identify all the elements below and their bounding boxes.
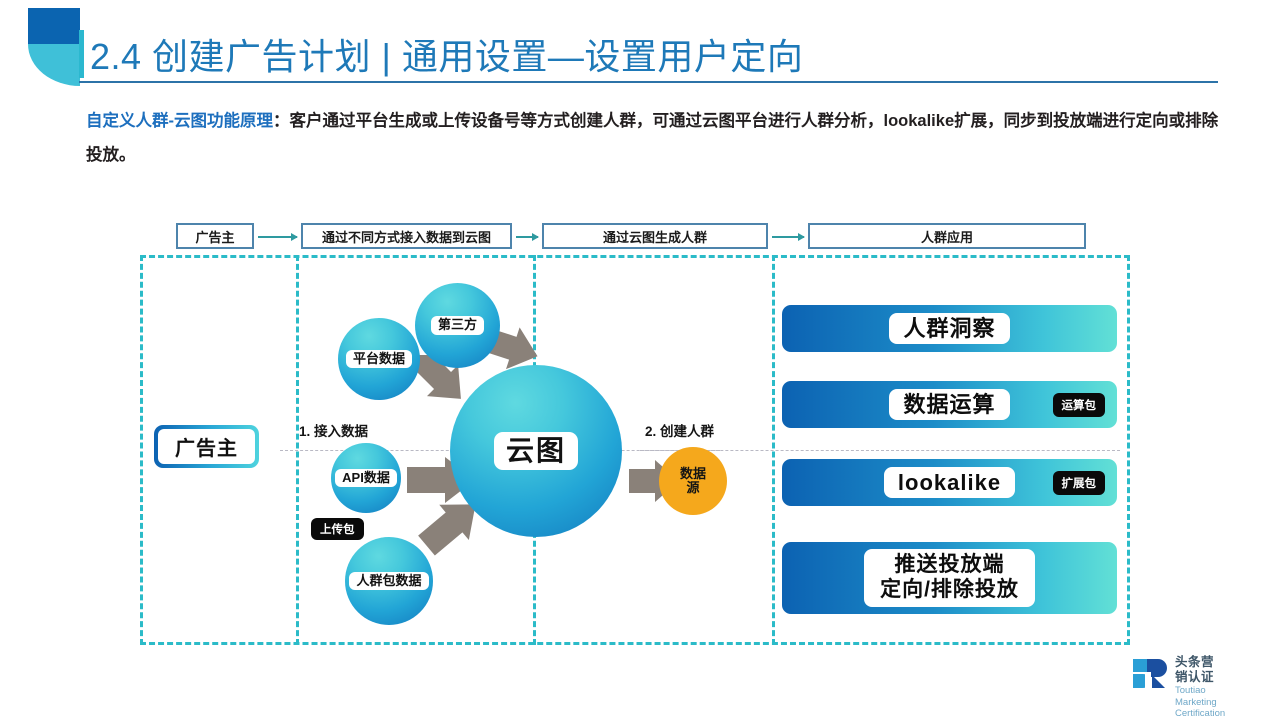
circle-data-source: 数据 源: [659, 447, 727, 515]
footer-logo-text: 头条营销认证 Toutiao Marketing Certification: [1175, 655, 1225, 720]
quarter-circle-logo-icon: [28, 8, 80, 86]
application-label: 人群洞察: [889, 313, 1009, 345]
title-underline: [79, 81, 1218, 83]
application-label: lookalike: [884, 467, 1015, 499]
circle-label: 云图: [494, 432, 578, 470]
circle-label: API数据: [335, 469, 397, 488]
application-label: 数据运算: [889, 389, 1009, 421]
application-label: 推送投放端 定向/排除投放: [864, 549, 1035, 607]
data-source-line1: 数据: [680, 467, 706, 481]
header-arrow-1: [258, 236, 297, 238]
footer-logo-en2: Certification: [1175, 708, 1225, 720]
application-label-line2: 定向/排除投放: [880, 578, 1019, 603]
application-tag: 运算包: [1053, 393, 1106, 417]
circle-label: 平台数据: [346, 350, 412, 369]
subtitle-highlight: 自定义人群-云图功能原理: [86, 112, 273, 130]
advertiser-box-label: 广告主: [158, 429, 255, 464]
circle-cloud-hub: 云图: [450, 365, 622, 537]
flow-line-right: [640, 450, 1120, 451]
logo-bottom-block: [28, 44, 80, 86]
circle-label: 第三方: [431, 316, 484, 335]
page-title: 2.4 创建广告计划 | 通用设置—设置用户定向: [90, 28, 803, 80]
application-label-line1: 推送投放端: [880, 553, 1019, 578]
header-arrow-3: [772, 236, 804, 238]
circle-label: 人群包数据: [349, 572, 428, 591]
circle-api-data: API数据: [331, 443, 401, 513]
advertiser-box: 广告主: [154, 425, 259, 468]
data-source-label: 数据 源: [680, 467, 706, 496]
footer-logo-cn: 头条营销认证: [1175, 655, 1225, 685]
header-arrow-2: [516, 236, 538, 238]
data-source-line2: 源: [680, 481, 706, 495]
step-label-ingest: 1. 接入数据: [299, 420, 368, 440]
column-header-application: 人群应用: [808, 223, 1086, 249]
circle-package-data: 人群包数据: [345, 537, 433, 625]
slide-root: 2.4 创建广告计划 | 通用设置—设置用户定向 自定义人群-云图功能原理：客户…: [0, 0, 1280, 720]
title-accent-bar: [79, 30, 84, 78]
subtitle-paragraph: 自定义人群-云图功能原理：客户通过平台生成或上传设备号等方式创建人群，可通过云图…: [86, 104, 1226, 172]
footer-logo-en1: Toutiao Marketing: [1175, 685, 1225, 708]
column-header-label: 通过云图生成人群: [603, 227, 707, 246]
toutiao-r-mark-icon: [1133, 657, 1167, 691]
column-header-label: 广告主: [195, 227, 234, 246]
column-header-label: 人群应用: [921, 227, 973, 246]
application-bar-lookalike: lookalike 扩展包: [782, 459, 1117, 506]
logo-top-block: [28, 8, 80, 44]
application-bar-insight: 人群洞察: [782, 305, 1117, 352]
upload-package-tag: 上传包: [311, 518, 364, 540]
application-bar-computation: 数据运算 运算包: [782, 381, 1117, 428]
column-header-label: 通过不同方式接入数据到云图: [322, 227, 491, 246]
circle-third-party: 第三方: [415, 283, 500, 368]
column-header-advertiser: 广告主: [176, 223, 254, 249]
circle-platform-data: 平台数据: [338, 318, 420, 400]
step-label-create: 2. 创建人群: [645, 420, 714, 440]
column-header-generate: 通过云图生成人群: [542, 223, 768, 249]
application-tag: 扩展包: [1053, 471, 1106, 495]
subtitle-colon: ：: [273, 112, 290, 130]
application-bar-push: 推送投放端 定向/排除投放: [782, 542, 1117, 614]
column-header-ingest: 通过不同方式接入数据到云图: [301, 223, 512, 249]
